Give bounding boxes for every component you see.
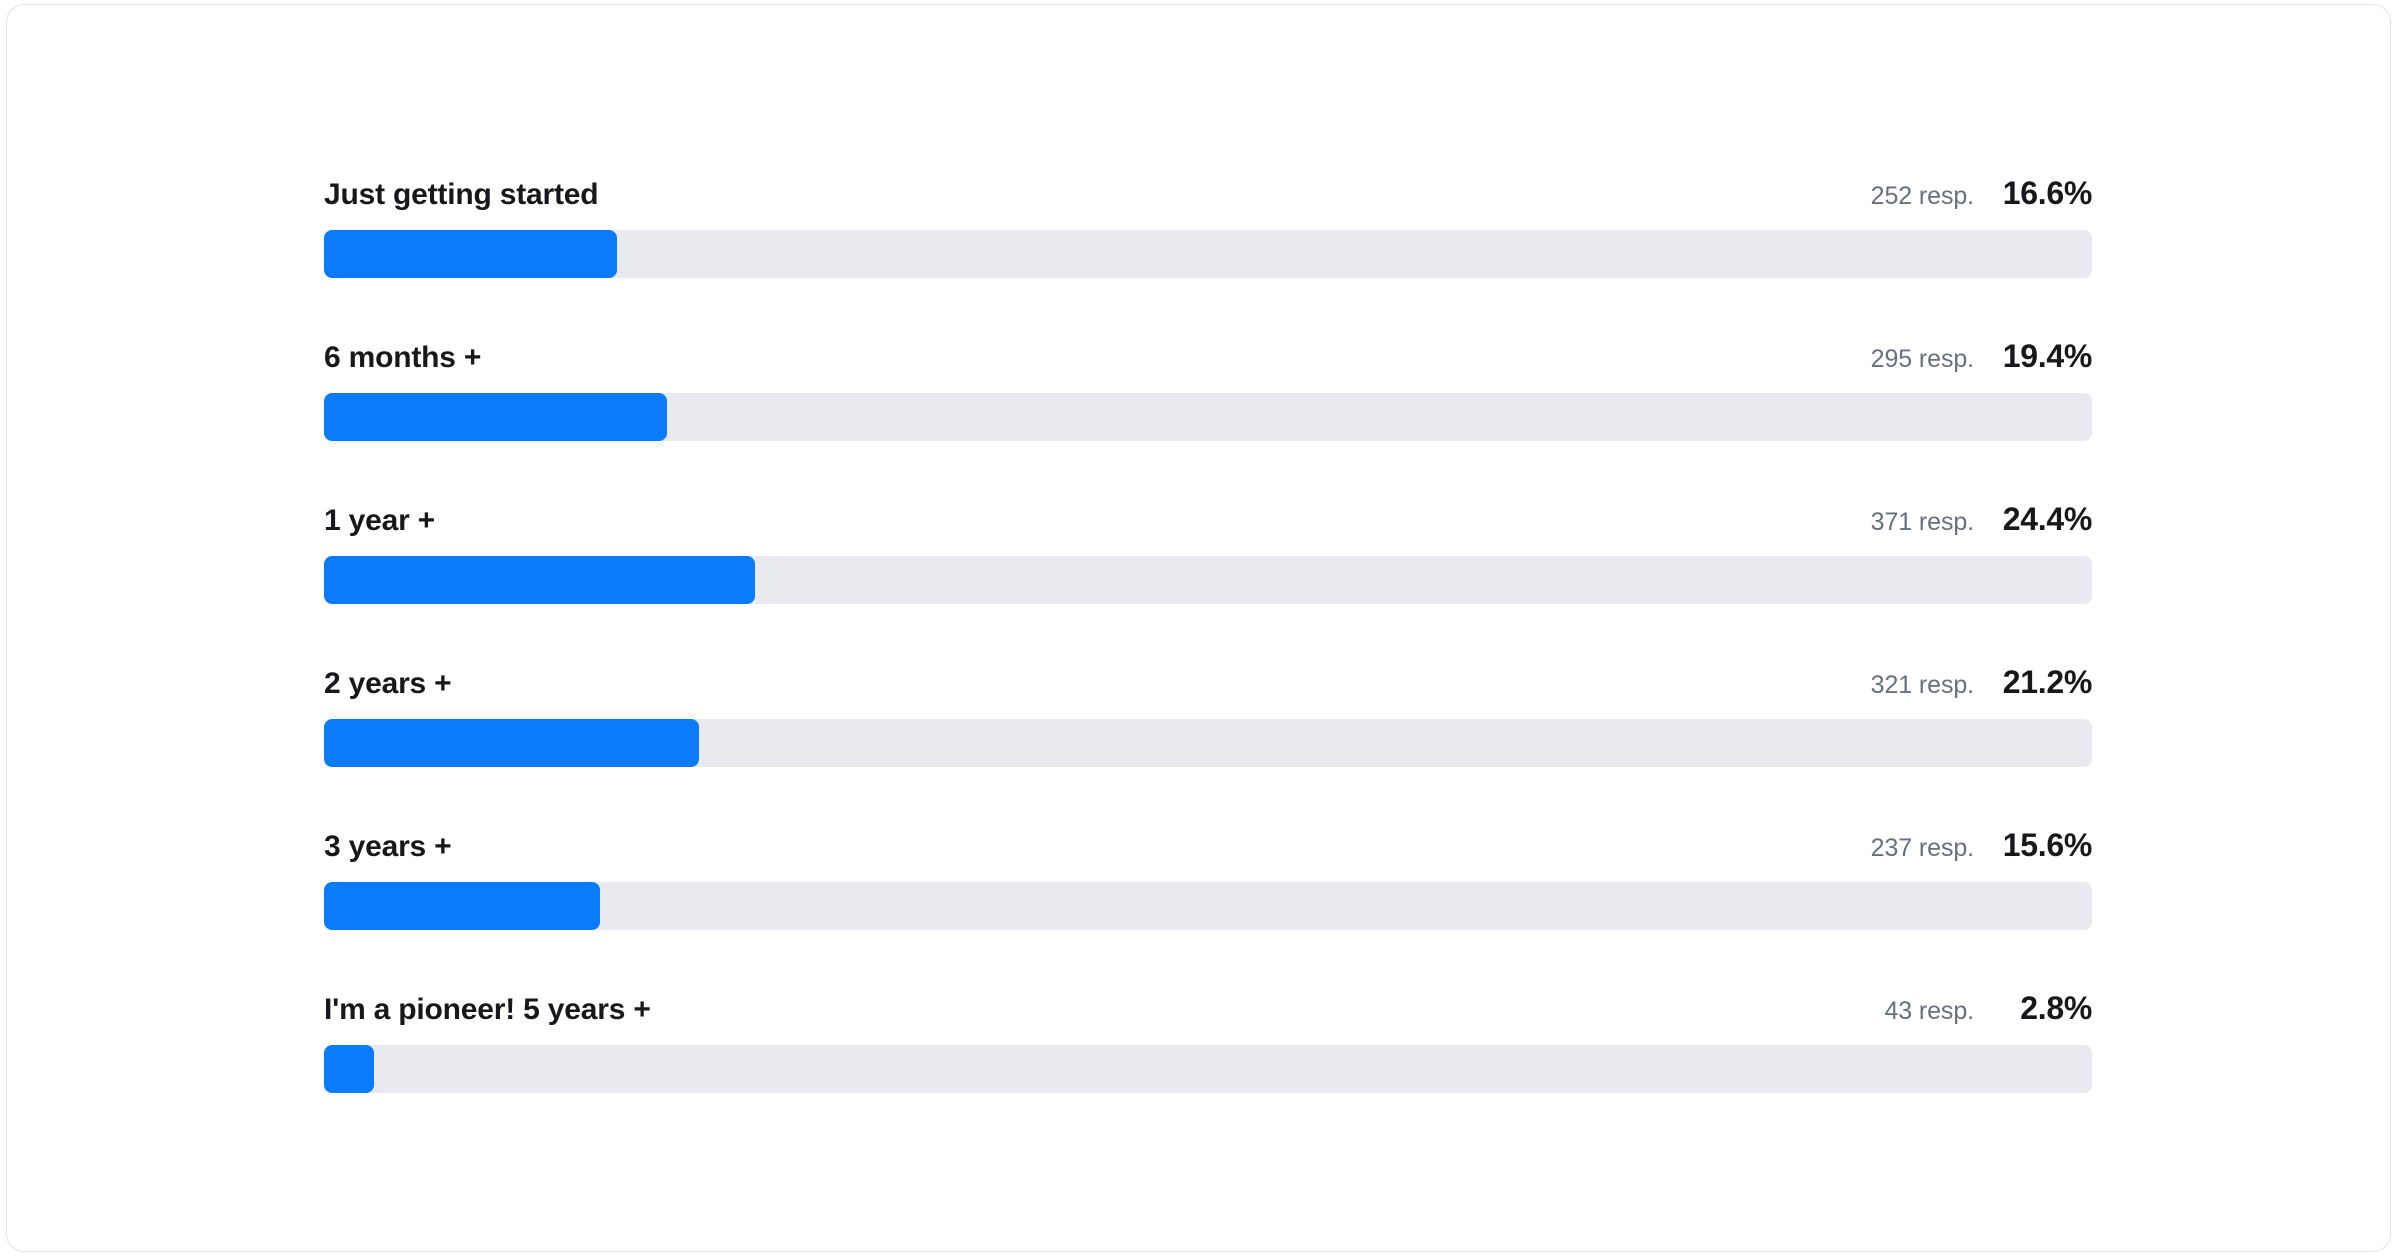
result-row: I'm a pioneer! 5 years + 43 resp. 2.8% (324, 990, 2092, 1093)
result-row-header: 2 years + 321 resp. 21.2% (324, 664, 2092, 698)
percentage-value: 16.6% (1974, 175, 2092, 212)
percentage-value: 21.2% (1974, 664, 2092, 701)
percentage-value: 15.6% (1974, 827, 2092, 864)
result-row-stats: 321 resp. 21.2% (1871, 664, 2092, 701)
response-count: 371 resp. (1871, 508, 1974, 537)
response-count: 252 resp. (1871, 182, 1974, 211)
bar-track (324, 393, 2092, 441)
bar-track (324, 882, 2092, 930)
response-count: 295 resp. (1871, 345, 1974, 374)
result-row: 3 years + 237 resp. 15.6% (324, 827, 2092, 930)
result-row: 1 year + 371 resp. 24.4% (324, 501, 2092, 604)
percentage-value: 24.4% (1974, 501, 2092, 538)
bar-fill (324, 719, 699, 767)
percentage-value: 2.8% (1974, 990, 2092, 1027)
result-row-header: 3 years + 237 resp. 15.6% (324, 827, 2092, 861)
result-row-header: Just getting started 252 resp. 16.6% (324, 175, 2092, 209)
result-row: 2 years + 321 resp. 21.2% (324, 664, 2092, 767)
percentage-value: 19.4% (1974, 338, 2092, 375)
option-label: 3 years + (324, 830, 452, 864)
bar-fill (324, 882, 600, 930)
result-row: 6 months + 295 resp. 19.4% (324, 338, 2092, 441)
option-label: 2 years + (324, 667, 452, 701)
result-row-header: 1 year + 371 resp. 24.4% (324, 501, 2092, 535)
response-count: 43 resp. (1884, 997, 1974, 1026)
option-label: 1 year + (324, 504, 435, 538)
bar-track (324, 556, 2092, 604)
survey-results-list: Just getting started 252 resp. 16.6% 6 m… (324, 175, 2092, 1093)
result-row-stats: 371 resp. 24.4% (1871, 501, 2092, 538)
response-count: 237 resp. (1871, 834, 1974, 863)
response-count: 321 resp. (1871, 671, 1974, 700)
bar-fill (324, 230, 617, 278)
bar-fill (324, 1045, 374, 1093)
result-row-stats: 43 resp. 2.8% (1884, 990, 2092, 1027)
bar-track (324, 230, 2092, 278)
option-label: Just getting started (324, 178, 598, 212)
result-row-header: I'm a pioneer! 5 years + 43 resp. 2.8% (324, 990, 2092, 1024)
survey-results-card: Just getting started 252 resp. 16.6% 6 m… (6, 4, 2391, 1252)
result-row-header: 6 months + 295 resp. 19.4% (324, 338, 2092, 372)
option-label: 6 months + (324, 341, 481, 375)
bar-fill (324, 393, 667, 441)
option-label: I'm a pioneer! 5 years + (324, 993, 651, 1027)
result-row-stats: 237 resp. 15.6% (1871, 827, 2092, 864)
result-row: Just getting started 252 resp. 16.6% (324, 175, 2092, 278)
result-row-stats: 252 resp. 16.6% (1871, 175, 2092, 212)
result-row-stats: 295 resp. 19.4% (1871, 338, 2092, 375)
bar-fill (324, 556, 755, 604)
bar-track (324, 719, 2092, 767)
bar-track (324, 1045, 2092, 1093)
